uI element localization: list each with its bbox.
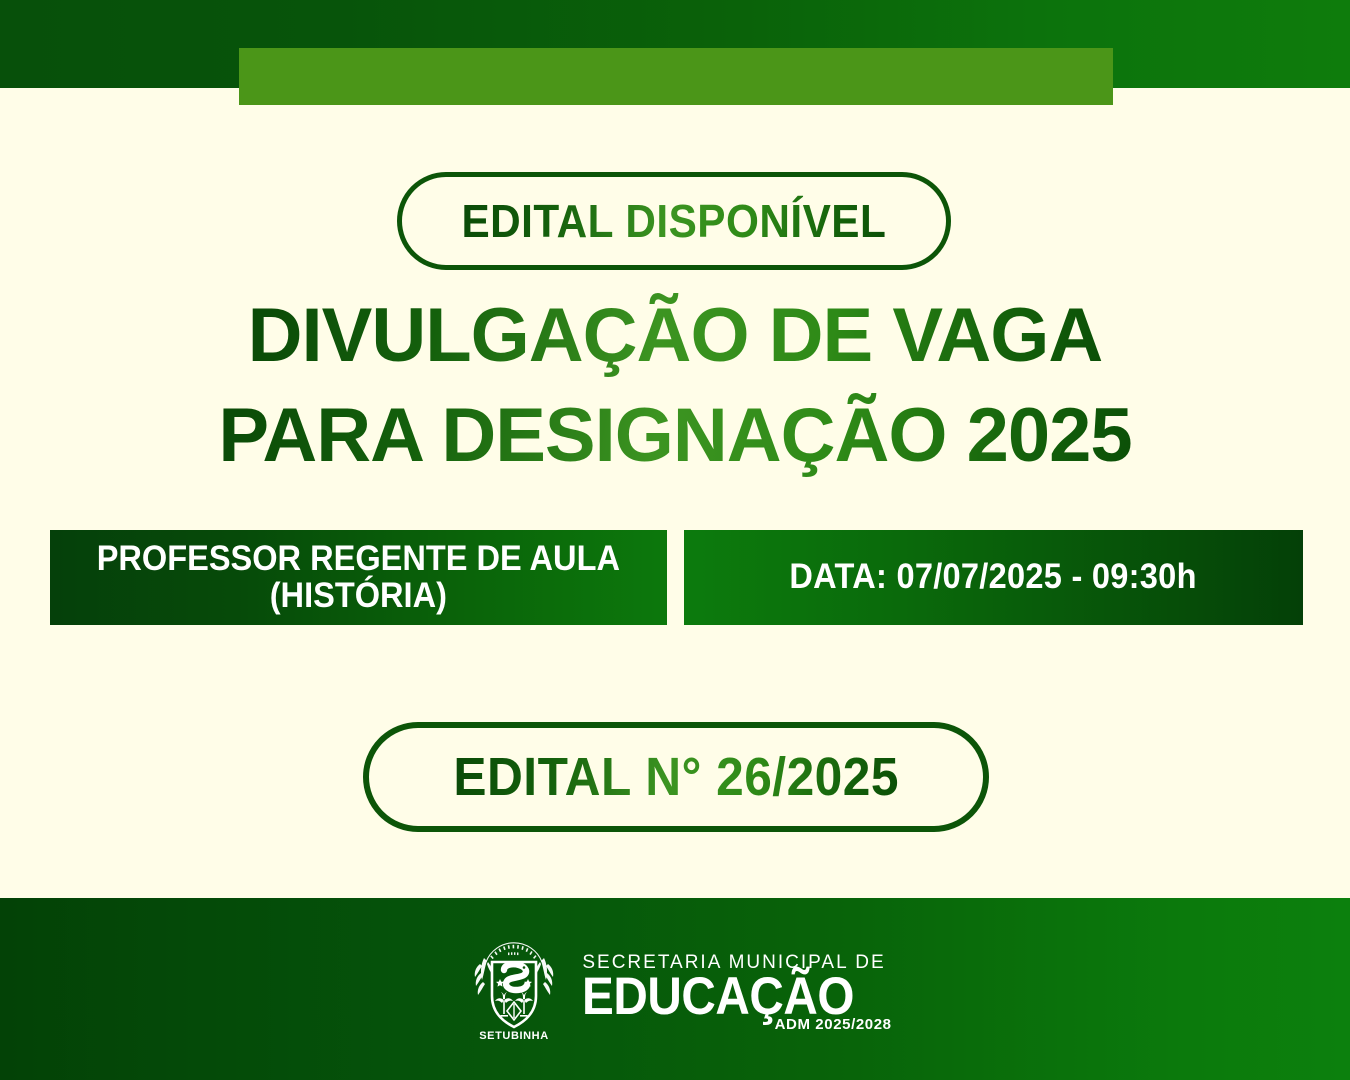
setubinha-coat-of-arms-icon: SETUBINHA [464, 928, 564, 1046]
header-accent-rectangle [239, 48, 1113, 105]
date-line-1: DATA: 07/07/2025 - 09:30h [790, 559, 1197, 595]
info-bar-date-text: DATA: 07/07/2025 - 09:30h [790, 559, 1197, 595]
secretaria-wordmark: SECRETARIA MUNICIPAL DE EDUCAÇÃO ADM 202… [582, 953, 885, 1022]
edital-number-label: EDITAL N° 26/2025 [453, 746, 899, 808]
crest-banner-text: SETUBINHA [480, 1030, 550, 1042]
wordmark-main-line: EDUCAÇÃO [582, 973, 855, 1022]
headline-line-1-text: DIVULGAÇÃO DE VAGA [248, 293, 1103, 378]
role-line-2: (HISTÓRIA) [97, 578, 620, 614]
headline-line-2: PARA DESIGNAÇÃO 2025 [0, 398, 1350, 474]
role-line-1: PROFESSOR REGENTE DE AULA [97, 541, 620, 577]
edital-disponivel-badge: EDITAL DISPONÍVEL [397, 172, 951, 270]
footer-logo-group: SETUBINHA SECRETARIA MUNICIPAL DE EDUCAÇ… [464, 928, 885, 1046]
edital-disponivel-label: EDITAL DISPONÍVEL [462, 194, 887, 248]
edital-number-badge: EDITAL N° 26/2025 [363, 722, 989, 832]
headline-line-1: DIVULGAÇÃO DE VAGA [0, 298, 1350, 374]
poster-canvas: EDITAL DISPONÍVEL DIVULGAÇÃO DE VAGA PAR… [0, 0, 1350, 1080]
footer-band: SETUBINHA SECRETARIA MUNICIPAL DE EDUCAÇ… [0, 898, 1350, 1080]
info-bar-date: DATA: 07/07/2025 - 09:30h [684, 530, 1303, 625]
info-bar-role: PROFESSOR REGENTE DE AULA (HISTÓRIA) [50, 530, 667, 625]
info-bar-role-text: PROFESSOR REGENTE DE AULA (HISTÓRIA) [97, 541, 620, 613]
headline-line-2-text: PARA DESIGNAÇÃO 2025 [218, 393, 1131, 478]
wordmark-adm-line: ADM 2025/2028 [775, 1016, 892, 1033]
